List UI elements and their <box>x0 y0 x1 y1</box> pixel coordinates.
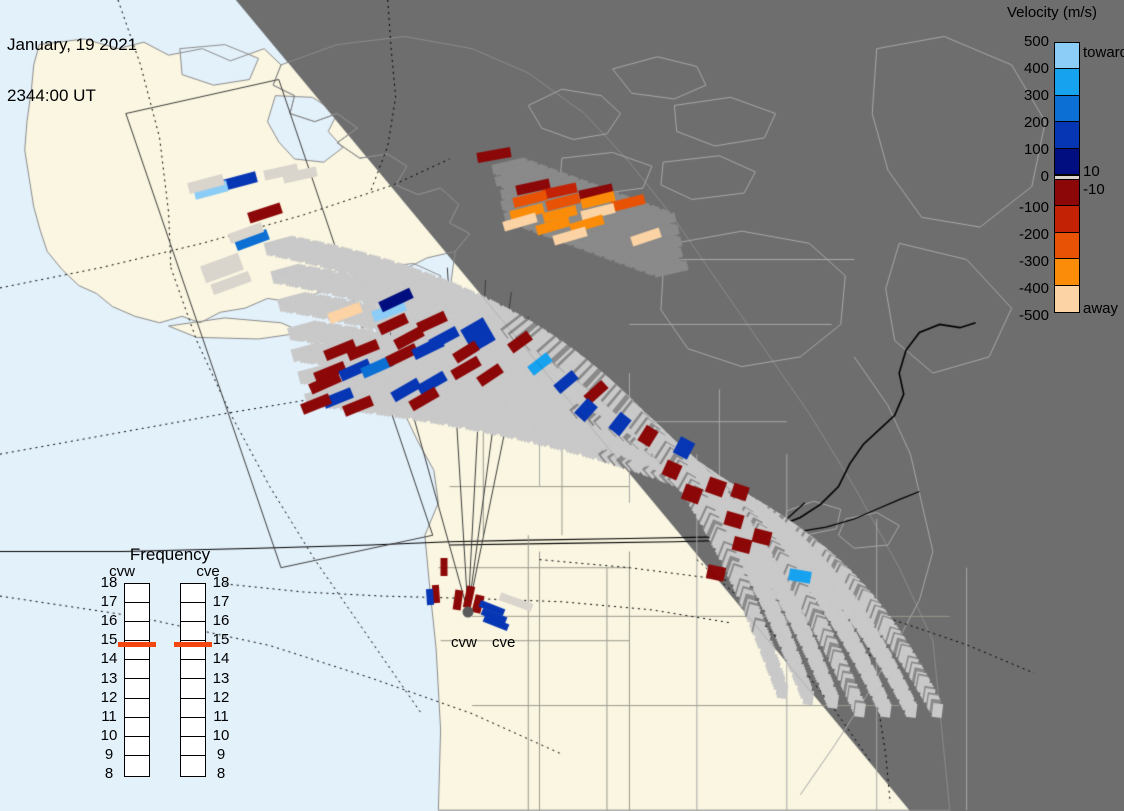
colorbar-strip <box>1054 42 1080 313</box>
frequency-tick-12: 12 <box>210 689 232 706</box>
frequency-marker-cvw <box>118 642 156 647</box>
colorbar-swatch-2 <box>1055 96 1079 122</box>
frequency-segment <box>181 679 205 698</box>
frequency-segment <box>125 679 149 698</box>
colorbar-swatch-4 <box>1055 149 1079 175</box>
frequency-gauge-cve: cve 18171615141312111098 <box>180 583 236 783</box>
frequency-tick-8: 8 <box>98 765 120 782</box>
colorbar-swatch-6 <box>1055 180 1079 206</box>
frequency-panel: Frequency cvw 18171615141312111098 cve 1… <box>90 545 250 790</box>
frequency-tick-8: 8 <box>210 765 232 782</box>
frequency-segment <box>181 737 205 756</box>
timestamp-time: 2344:00 UT <box>7 87 137 104</box>
colorbar-swatch-3 <box>1055 122 1079 148</box>
frequency-tick-14: 14 <box>98 650 120 667</box>
frequency-tick-18: 18 <box>98 574 120 591</box>
frequency-tick-11: 11 <box>210 708 232 725</box>
colorbar-tick-neg200: -200 <box>1019 226 1049 243</box>
frequency-tick-10: 10 <box>210 727 232 744</box>
colorbar-tick-neg500: -500 <box>1019 307 1049 324</box>
frequency-segment <box>125 622 149 641</box>
frequency-tick-17: 17 <box>98 593 120 610</box>
frequency-tick-16: 16 <box>210 612 232 629</box>
frequency-segment <box>181 660 205 679</box>
frequency-tick-11: 11 <box>98 708 120 725</box>
frequency-tick-16: 16 <box>98 612 120 629</box>
colorbar-title: Velocity (m/s) <box>980 4 1124 21</box>
colorbar-side-labels: toward10-10away <box>1083 30 1124 330</box>
frequency-marker-cve <box>174 642 212 647</box>
frequency-segment <box>125 737 149 756</box>
frequency-segment <box>125 584 149 603</box>
frequency-segment <box>125 603 149 622</box>
frequency-bar-cvw <box>124 583 150 777</box>
frequency-segment <box>125 718 149 737</box>
frequency-title: Frequency <box>90 545 250 565</box>
frequency-segment <box>181 622 205 641</box>
colorbar-tick-100: 100 <box>1024 141 1049 158</box>
colorbar-tick-500: 500 <box>1024 33 1049 50</box>
frequency-segment <box>181 718 205 737</box>
frequency-segment <box>125 660 149 679</box>
colorbar-toward-label: toward <box>1083 44 1124 61</box>
frequency-bar-cve <box>180 583 206 777</box>
colorbar-swatch-9 <box>1055 259 1079 285</box>
colorbar-swatch-8 <box>1055 233 1079 259</box>
frequency-gauge-cvw: cvw 18171615141312111098 <box>94 583 150 783</box>
colorbar-swatch-7 <box>1055 206 1079 232</box>
colorbar-zero-lower-label: -10 <box>1083 181 1105 198</box>
frequency-scale-cve: 18171615141312111098 <box>210 574 232 784</box>
colorbar-tick-neg400: -400 <box>1019 280 1049 297</box>
frequency-segment <box>181 699 205 718</box>
colorbar-swatch-10 <box>1055 286 1079 312</box>
frequency-tick-15: 15 <box>98 631 120 648</box>
frequency-segment <box>125 756 149 775</box>
frequency-scale-cvw: 18171615141312111098 <box>98 574 120 784</box>
frequency-tick-14: 14 <box>210 650 232 667</box>
colorbar-tick-300: 300 <box>1024 87 1049 104</box>
timestamp-block: January, 19 2021 2344:00 UT <box>7 2 137 138</box>
frequency-tick-18: 18 <box>210 574 232 591</box>
frequency-tick-9: 9 <box>210 746 232 763</box>
superdarn-velocity-map: January, 19 2021 2344:00 UT Velocity (m/… <box>0 0 1124 811</box>
frequency-tick-13: 13 <box>210 670 232 687</box>
colorbar-tick-0: 0 <box>1041 168 1049 185</box>
colorbar-tick-neg300: -300 <box>1019 253 1049 270</box>
frequency-tick-12: 12 <box>98 689 120 706</box>
colorbar-tick-400: 400 <box>1024 60 1049 77</box>
colorbar-away-label: away <box>1083 300 1118 317</box>
frequency-segment <box>125 699 149 718</box>
frequency-segment <box>181 584 205 603</box>
colorbar-tick-neg100: -100 <box>1019 199 1049 216</box>
colorbar-swatch-0 <box>1055 43 1079 69</box>
frequency-segment <box>181 756 205 775</box>
colorbar-tick-labels: 5004003002001000-100-200-300-400-500 <box>985 30 1049 330</box>
frequency-tick-15: 15 <box>210 631 232 648</box>
frequency-segment <box>181 603 205 622</box>
colorbar-swatch-1 <box>1055 69 1079 95</box>
frequency-tick-13: 13 <box>98 670 120 687</box>
colorbar-tick-200: 200 <box>1024 114 1049 131</box>
timestamp-date: January, 19 2021 <box>7 36 137 53</box>
colorbar-zero-upper-label: 10 <box>1083 163 1100 180</box>
frequency-tick-17: 17 <box>210 593 232 610</box>
frequency-tick-10: 10 <box>98 727 120 744</box>
frequency-tick-9: 9 <box>98 746 120 763</box>
